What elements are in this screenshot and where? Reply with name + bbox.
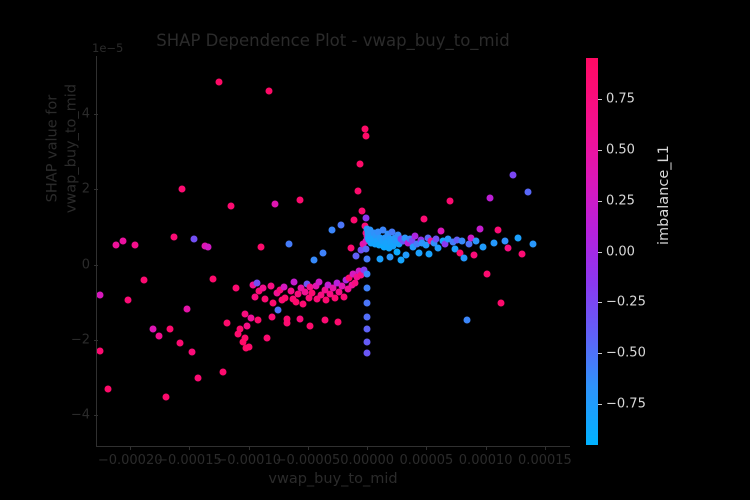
scatter-point bbox=[259, 284, 266, 291]
scatter-point bbox=[293, 298, 300, 305]
scatter-point bbox=[316, 278, 323, 285]
scatter-point bbox=[241, 334, 248, 341]
scatter-point bbox=[514, 235, 521, 242]
scatter-point bbox=[363, 245, 370, 252]
y-tick-label: 2 bbox=[82, 182, 90, 197]
scatter-point bbox=[188, 348, 195, 355]
scatter-point bbox=[362, 133, 369, 140]
scatter-point bbox=[466, 240, 473, 247]
x-tick-label: 0.00000 bbox=[340, 453, 394, 468]
scatter-point bbox=[363, 300, 370, 307]
colorbar-tick-mark bbox=[598, 404, 602, 405]
scatter-point bbox=[498, 300, 505, 307]
colorbar-tick-mark bbox=[598, 252, 602, 253]
scatter-point bbox=[285, 240, 292, 247]
scatter-point bbox=[376, 256, 383, 263]
x-tick-label: −0.00005 bbox=[276, 453, 341, 468]
scatter-point bbox=[224, 319, 231, 326]
scatter-point bbox=[470, 252, 477, 259]
y-tick-label: −2 bbox=[71, 332, 90, 347]
scatter-point bbox=[219, 368, 226, 375]
scatter-point bbox=[227, 203, 234, 210]
scatter-point bbox=[421, 215, 428, 222]
scatter-point bbox=[265, 87, 272, 94]
scatter-point bbox=[483, 271, 490, 278]
y-tick-label: −4 bbox=[71, 408, 90, 423]
scatter-point bbox=[480, 243, 487, 250]
scatter-point bbox=[310, 257, 317, 264]
scatter-point bbox=[141, 276, 148, 283]
scatter-point bbox=[97, 348, 103, 355]
x-tick-label: 0.00015 bbox=[518, 453, 572, 468]
scatter-point bbox=[131, 242, 138, 249]
scatter-point bbox=[307, 322, 314, 329]
scatter-point bbox=[426, 251, 433, 258]
colorbar-tick-label: −0.75 bbox=[606, 397, 646, 412]
y-axis-title-line1: SHAP value for bbox=[44, 95, 60, 203]
scatter-point bbox=[332, 294, 339, 301]
scatter-point bbox=[354, 188, 361, 195]
scatter-point bbox=[458, 238, 465, 245]
scatter-point bbox=[387, 254, 394, 261]
scatter-point bbox=[291, 278, 298, 285]
scatter-point bbox=[255, 317, 262, 324]
scatter-point bbox=[120, 238, 127, 245]
scatter-point bbox=[275, 306, 282, 313]
scatter-point bbox=[323, 297, 330, 304]
scatter-point bbox=[162, 393, 169, 400]
scatter-point bbox=[244, 322, 251, 329]
scatter-point bbox=[494, 227, 501, 234]
colorbar-tick-label: −0.25 bbox=[606, 295, 646, 310]
scatter-point bbox=[296, 196, 303, 203]
plot-axes: 420−2−4 −0.00020−0.00015−0.00010−0.00005… bbox=[96, 56, 570, 447]
x-tick-mark bbox=[426, 446, 427, 450]
scatter-point bbox=[282, 294, 289, 301]
y-axis-title: SHAP value for vwap_buy_to_mid bbox=[43, 49, 80, 249]
scatter-point bbox=[476, 225, 483, 232]
scatter-point bbox=[363, 214, 370, 221]
colorbar-tick-mark bbox=[598, 302, 602, 303]
scatter-point bbox=[194, 375, 201, 382]
scatter-point bbox=[364, 326, 371, 333]
scatter-point bbox=[363, 284, 370, 291]
scatter-point bbox=[321, 317, 328, 324]
colorbar-tick-label: 0.75 bbox=[606, 91, 635, 106]
scatter-point bbox=[447, 198, 454, 205]
scatter-point bbox=[112, 242, 119, 249]
scatter-point bbox=[280, 284, 287, 291]
scatter-point bbox=[353, 253, 360, 260]
scatter-point bbox=[351, 217, 358, 224]
scatter-point bbox=[242, 311, 249, 318]
scatter-point bbox=[463, 317, 470, 324]
scatter-point bbox=[210, 275, 217, 282]
scatter-point bbox=[337, 222, 344, 229]
x-tick-mark bbox=[249, 446, 250, 450]
y-tick-mark bbox=[94, 340, 98, 341]
colorbar-tick-label: 0.00 bbox=[606, 244, 635, 259]
scatter-point bbox=[248, 315, 255, 322]
scatter-point bbox=[296, 316, 303, 323]
scatter-point bbox=[473, 238, 480, 245]
colorbar-tick-mark bbox=[598, 201, 602, 202]
x-tick-label: −0.00020 bbox=[98, 453, 163, 468]
scatter-point bbox=[505, 244, 512, 251]
scatter-point bbox=[205, 243, 212, 250]
scatter-point bbox=[432, 236, 439, 243]
scatter-point bbox=[246, 343, 253, 350]
x-tick-label: −0.00010 bbox=[216, 453, 281, 468]
y-tick-mark bbox=[94, 415, 98, 416]
scatter-point bbox=[287, 287, 294, 294]
colorbar-gradient bbox=[586, 58, 598, 445]
scatter-point bbox=[519, 251, 526, 258]
scatter-point bbox=[105, 386, 112, 393]
scatter-point bbox=[155, 333, 162, 340]
scatter-point bbox=[294, 290, 301, 297]
scatter-point bbox=[363, 271, 370, 278]
scatter-point bbox=[179, 186, 186, 193]
scatter-point bbox=[530, 240, 537, 247]
x-tick-label: −0.00015 bbox=[157, 453, 222, 468]
scatter-point bbox=[184, 306, 191, 313]
scatter-point bbox=[362, 125, 369, 132]
scatter-point bbox=[328, 227, 335, 234]
scatter-point bbox=[149, 326, 156, 333]
scatter-point bbox=[269, 313, 276, 320]
scatter-point bbox=[216, 79, 223, 86]
scatter-point bbox=[363, 256, 370, 263]
scatter-point bbox=[176, 339, 183, 346]
scatter-point bbox=[319, 249, 326, 256]
scatter-point bbox=[364, 350, 371, 357]
colorbar-tick-mark bbox=[598, 99, 602, 100]
scatter-point bbox=[397, 257, 404, 264]
y-tick-mark bbox=[94, 114, 98, 115]
scatter-point bbox=[262, 296, 269, 303]
colorbar-tick-mark bbox=[598, 150, 602, 151]
y-tick-mark bbox=[94, 189, 98, 190]
scatter-point bbox=[300, 301, 307, 308]
scatter-point bbox=[309, 289, 316, 296]
colorbar-tick-label: 0.25 bbox=[606, 193, 635, 208]
x-tick-mark bbox=[367, 446, 368, 450]
scatter-point bbox=[364, 338, 371, 345]
scatter-point bbox=[171, 234, 178, 241]
x-tick-label: 0.00005 bbox=[400, 453, 454, 468]
scatter-point bbox=[394, 248, 401, 255]
scatter-point bbox=[461, 254, 468, 261]
scatter-point bbox=[334, 318, 341, 325]
scatter-point bbox=[347, 244, 354, 251]
scatter-point bbox=[97, 292, 103, 299]
x-tick-mark bbox=[486, 446, 487, 450]
scatter-point bbox=[232, 284, 239, 291]
scatter-point bbox=[283, 319, 290, 326]
scatter-point bbox=[341, 293, 348, 300]
colorbar-tick-label: −0.50 bbox=[606, 346, 646, 361]
scatter-point bbox=[237, 326, 244, 333]
scatter-point bbox=[264, 334, 271, 341]
colorbar-tick-mark bbox=[598, 353, 602, 354]
scatter-point bbox=[490, 239, 497, 246]
scatter-point bbox=[437, 227, 444, 234]
scatter-point bbox=[268, 283, 275, 290]
scatter-point bbox=[269, 300, 276, 307]
scatter-point bbox=[525, 189, 532, 196]
scatter-point bbox=[167, 325, 174, 332]
scatter-point bbox=[509, 172, 516, 179]
y-tick-mark bbox=[94, 265, 98, 266]
page-title: SHAP Dependence Plot - vwap_buy_to_mid bbox=[96, 31, 570, 50]
shap-dependence-plot-figure: SHAP Dependence Plot - vwap_buy_to_mid 1… bbox=[0, 0, 750, 500]
scatter-points-layer bbox=[97, 56, 571, 447]
scatter-point bbox=[363, 313, 370, 320]
x-tick-mark bbox=[130, 446, 131, 450]
scatter-point bbox=[435, 244, 442, 251]
scatter-point bbox=[271, 200, 278, 207]
y-axis-title-line2: vwap_buy_to_mid bbox=[63, 84, 79, 213]
x-tick-label: 0.00010 bbox=[459, 453, 513, 468]
y-tick-label: 0 bbox=[82, 257, 90, 272]
x-axis-title: vwap_buy_to_mid bbox=[96, 471, 570, 487]
x-tick-mark bbox=[545, 446, 546, 450]
scatter-point bbox=[356, 160, 363, 167]
y-tick-label: 4 bbox=[82, 107, 90, 122]
x-tick-mark bbox=[189, 446, 190, 450]
y-axis-offset-label: 1e−5 bbox=[92, 41, 123, 55]
scatter-point bbox=[487, 194, 494, 201]
scatter-point bbox=[415, 249, 422, 256]
colorbar-tick-label: 0.50 bbox=[606, 142, 635, 157]
scatter-point bbox=[257, 243, 264, 250]
scatter-point bbox=[124, 297, 131, 304]
x-tick-mark bbox=[308, 446, 309, 450]
scatter-point bbox=[191, 236, 198, 243]
colorbar: 0.750.500.250.00−0.25−0.50−0.75 bbox=[586, 58, 598, 445]
colorbar-title: imbalance_L1 bbox=[656, 145, 672, 245]
scatter-point bbox=[352, 279, 359, 286]
